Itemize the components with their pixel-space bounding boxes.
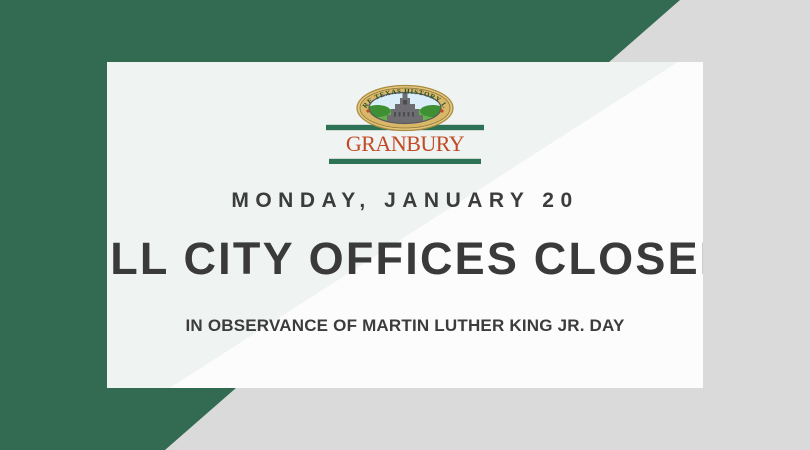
logo-bottom-rule — [329, 158, 481, 164]
logo-wordmark: Granbury — [326, 125, 484, 157]
date-eyebrow: MONDAY, JANUARY 20 — [231, 189, 578, 213]
granbury-city-logo: WHERE TEXAS HISTORY LIVES Granbury — [326, 84, 484, 166]
announcement-card: WHERE TEXAS HISTORY LIVES Granbury MONDA… — [107, 62, 703, 388]
page-title: ALL CITY OFFICES CLOSED — [107, 233, 703, 285]
observance-subtitle: IN OBSERVANCE OF MARTIN LUTHER KING JR. … — [186, 316, 625, 336]
announcement-graphic: WHERE TEXAS HISTORY LIVES Granbury MONDA… — [0, 0, 810, 450]
